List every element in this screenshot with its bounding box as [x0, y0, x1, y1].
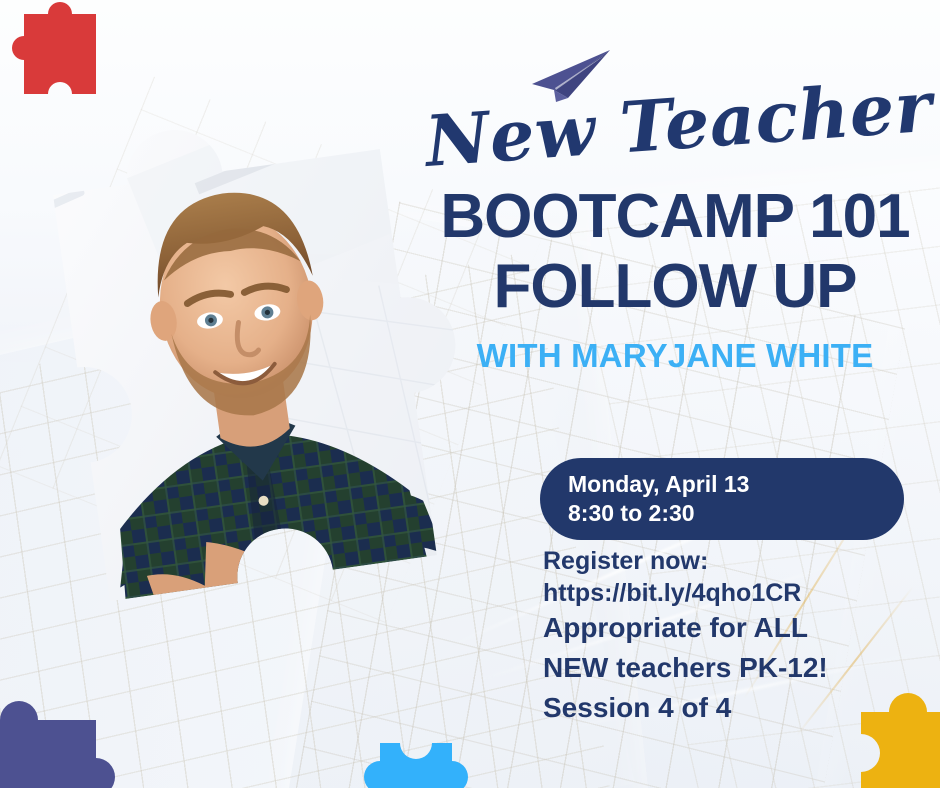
registration-block: Register now: https://bit.ly/4qho1CR: [543, 546, 923, 610]
headline-line-2: FOLLOW UP: [420, 256, 930, 318]
script-title: New Teacher: [423, 77, 857, 177]
blurb-line-1: Appropriate for ALL: [543, 608, 933, 648]
register-label: Register now:: [543, 546, 923, 578]
audience-blurb: Appropriate for ALL NEW teachers PK-12! …: [543, 608, 933, 727]
puzzle-piece-red-icon: [4, 2, 104, 97]
puzzle-piece-blue-icon: [358, 735, 474, 788]
event-time: 8:30 to 2:30: [568, 499, 904, 528]
presenter-name: WITH MARYJANE WHITE: [420, 337, 930, 375]
blurb-line-2: NEW teachers PK-12!: [543, 648, 933, 688]
register-url[interactable]: https://bit.ly/4qho1CR: [543, 578, 923, 610]
blurb-line-3: Session 4 of 4: [543, 688, 933, 728]
event-date: Monday, April 13: [568, 470, 904, 499]
headline-line-1: BOOTCAMP 101: [420, 186, 930, 248]
presenter-portrait: [22, 110, 472, 670]
date-time-badge: Monday, April 13 8:30 to 2:30: [540, 458, 904, 540]
flyer-canvas: New Teacher BOOTCAMP 101 FOLLOW UP WITH …: [0, 0, 940, 788]
